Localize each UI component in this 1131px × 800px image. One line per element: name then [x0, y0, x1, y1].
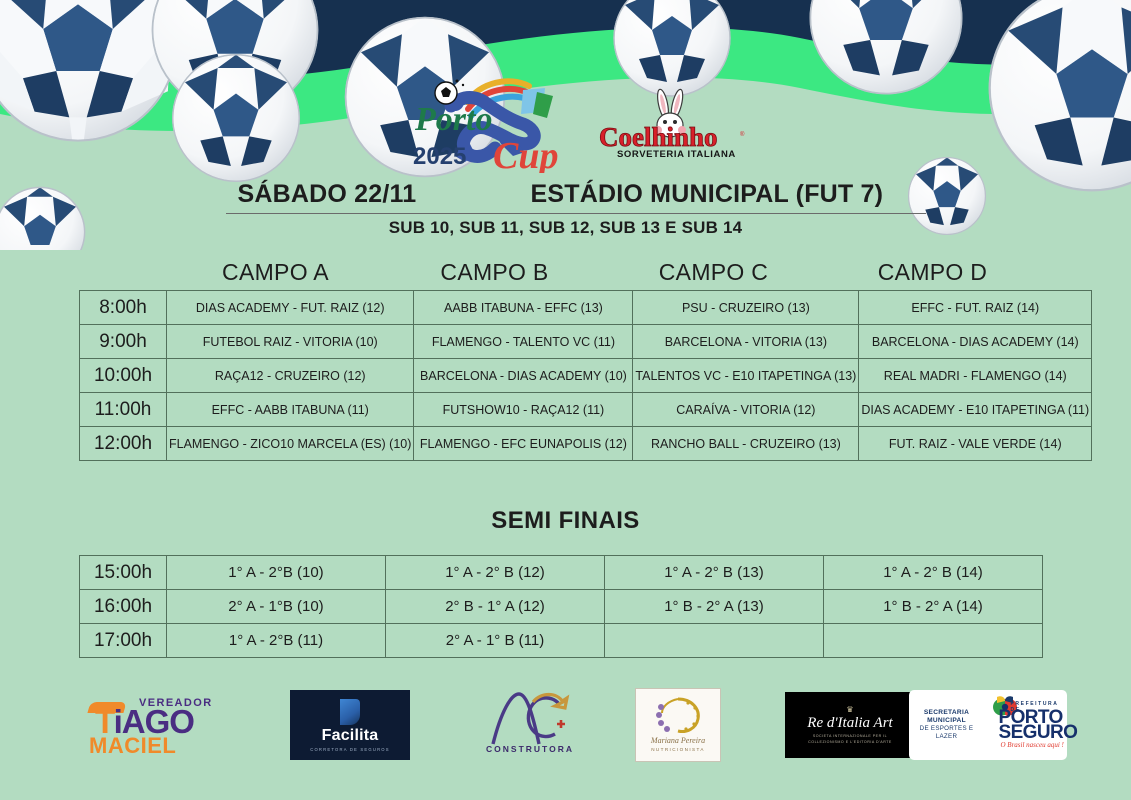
seguro-word: SEGURO — [999, 723, 1078, 742]
match-cell: DIAS ACADEMY - E10 ITAPETINGA (11) — [859, 393, 1092, 427]
match-cell: CARAÍVA - VITORIA (12) — [633, 393, 859, 427]
table-row: 11:00h EFFC - AABB ITABUNA (11) FUTSHOW1… — [80, 393, 1092, 427]
event-date: SÁBADO 22/11 — [238, 180, 417, 209]
facilita-tagline: CORRETORA DE SEGUROS — [310, 747, 390, 752]
match-cell: TALENTOS VC - E10 ITAPETINGA (13) — [633, 359, 859, 393]
match-cell: 1° A - 2° B (14) — [824, 556, 1043, 590]
svg-text:Coelhinho: Coelhinho — [599, 122, 718, 152]
facilita-mark-icon — [340, 699, 360, 725]
event-header: SÁBADO 22/11 ESTÁDIO MUNICIPAL (FUT 7) — [0, 180, 1131, 214]
match-cell: FLAMENGO - TALENTO VC (11) — [414, 325, 633, 359]
row-time: 15:00h — [80, 556, 167, 590]
tournament-schedule-poster: Porto 2025 Cup Coelhinho ® SORVETERIA IT… — [0, 0, 1131, 800]
group-stage-table: 8:00h DIAS ACADEMY - FUT. RAIZ (12) AABB… — [79, 290, 1092, 461]
row-time: 16:00h — [80, 590, 167, 624]
event-venue: ESTÁDIO MUNICIPAL (FUT 7) — [531, 180, 884, 209]
match-cell: 1° B - 2° A (13) — [605, 590, 824, 624]
svg-text:Cup: Cup — [493, 135, 558, 173]
column-header-campo-d: CAMPO D — [823, 259, 1042, 286]
match-cell: EFFC - AABB ITABUNA (11) — [167, 393, 414, 427]
column-header-campo-b: CAMPO B — [385, 259, 604, 286]
match-cell: BARCELONA - DIAS ACADEMY (10) — [414, 359, 633, 393]
match-cell: FUTSHOW10 - RAÇA12 (11) — [414, 393, 633, 427]
sponsor-porto-seguro: SECRETARIA MUNICIPAL DE ESPORTES E LAZER… — [900, 680, 1075, 770]
ac-monogram-icon — [489, 690, 573, 746]
match-cell: 2° A - 1° B (11) — [386, 624, 605, 658]
tiago-surname: MACIEL — [89, 735, 176, 757]
secretaria-line2: DE ESPORTES E LAZER — [909, 725, 985, 741]
table-row: 9:00h FUTEBOL RAIZ - VITORIA (10) FLAMEN… — [80, 325, 1092, 359]
wreath-icon — [648, 695, 708, 737]
coelhinho-sponsor-logo: Coelhinho ® SORVETERIA ITALIANA — [595, 88, 755, 160]
match-cell: PSU - CRUZEIRO (13) — [633, 291, 859, 325]
secretaria-line1: SECRETARIA MUNICIPAL — [909, 709, 985, 725]
svg-text:®: ® — [740, 131, 745, 138]
column-header-campo-c: CAMPO C — [604, 259, 823, 286]
svg-text:2025: 2025 — [413, 143, 466, 170]
match-cell: REAL MADRI - FLAMENGO (14) — [859, 359, 1092, 393]
match-cell: RANCHO BALL - CRUZEIRO (13) — [633, 427, 859, 461]
table-row: 10:00h RAÇA12 - CRUZEIRO (12) BARCELONA … — [80, 359, 1092, 393]
ac-label: CONSTRUTORA — [475, 744, 585, 754]
table-row: 17:00h 1° A - 2°B (11) 2° A - 1° B (11) — [80, 624, 1043, 658]
match-cell — [605, 624, 824, 658]
match-cell: 2° B - 1° A (12) — [386, 590, 605, 624]
row-time: 12:00h — [80, 427, 167, 461]
match-cell: DIAS ACADEMY - FUT. RAIZ (12) — [167, 291, 414, 325]
semi-finals-title: SEMI FINAIS — [0, 507, 1131, 535]
match-cell: 1° A - 2°B (10) — [167, 556, 386, 590]
re-italia-name: Re d'Italia Art — [807, 715, 892, 732]
nutri-role: NUTRICIONISTA — [636, 747, 720, 752]
sponsor-mariana-pereira-nutricionista: Mariana Pereira NUTRICIONISTA — [603, 680, 753, 770]
match-cell: 2° A - 1°B (10) — [167, 590, 386, 624]
row-time: 17:00h — [80, 624, 167, 658]
row-time: 11:00h — [80, 393, 167, 427]
match-cell: 1° A - 2° B (12) — [386, 556, 605, 590]
field-column-headers: CAMPO A CAMPO B CAMPO C CAMPO D — [166, 259, 1042, 286]
sponsor-logos-row: VEREADOR TiAGO MACIEL Facilita CORRETORA… — [60, 680, 1080, 772]
column-header-campo-a: CAMPO A — [166, 259, 385, 286]
re-italia-sub2: COLLEZIONISMO E L'EDITORIA D'ARTE — [808, 740, 892, 744]
facilita-name: Facilita — [322, 728, 379, 744]
match-cell: BARCELONA - VITORIA (13) — [633, 325, 859, 359]
match-cell: FLAMENGO - EFC EUNAPOLIS (12) — [414, 427, 633, 461]
match-cell: 1° A - 2° B (13) — [605, 556, 824, 590]
match-cell: FUT. RAIZ - VALE VERDE (14) — [859, 427, 1092, 461]
svg-text:SORVETERIA ITALIANA: SORVETERIA ITALIANA — [617, 149, 736, 160]
sponsor-facilita: Facilita CORRETORA DE SEGUROS — [265, 680, 435, 770]
porto-slogan: O Brasil nasceu aqui ! — [1001, 741, 1064, 749]
row-time: 9:00h — [80, 325, 167, 359]
sponsor-ac-construtora: CONSTRUTORA — [460, 680, 600, 770]
table-row: 8:00h DIAS ACADEMY - FUT. RAIZ (12) AABB… — [80, 291, 1092, 325]
match-cell: FLAMENGO - ZICO10 MARCELA (ES) (10) — [167, 427, 414, 461]
match-cell: FUTEBOL RAIZ - VITORIA (10) — [167, 325, 414, 359]
match-cell: BARCELONA - DIAS ACADEMY (14) — [859, 325, 1092, 359]
nutri-name: Mariana Pereira — [636, 736, 720, 745]
match-cell: 1° A - 2°B (11) — [167, 624, 386, 658]
event-categories: SUB 10, SUB 11, SUB 12, SUB 13 E SUB 14 — [0, 218, 1131, 238]
sponsor-tiago-maciel: VEREADOR TiAGO MACIEL — [76, 680, 236, 770]
match-cell: 1° B - 2° A (14) — [824, 590, 1043, 624]
match-cell: EFFC - FUT. RAIZ (14) — [859, 291, 1092, 325]
row-time: 8:00h — [80, 291, 167, 325]
table-row: 12:00h FLAMENGO - ZICO10 MARCELA (ES) (1… — [80, 427, 1092, 461]
svg-text:Porto: Porto — [414, 101, 492, 138]
match-cell: RAÇA12 - CRUZEIRO (12) — [167, 359, 414, 393]
table-row: 16:00h 2° A - 1°B (10) 2° B - 1° A (12) … — [80, 590, 1043, 624]
table-row: 15:00h 1° A - 2°B (10) 1° A - 2° B (12) … — [80, 556, 1043, 590]
match-cell — [824, 624, 1043, 658]
crown-icon: ♛ — [846, 706, 853, 714]
re-italia-sub1: SOCIETA INTERNAZIONALE PER IL — [813, 734, 887, 738]
match-cell: AABB ITABUNA - EFFC (13) — [414, 291, 633, 325]
header-divider — [226, 213, 926, 214]
row-time: 10:00h — [80, 359, 167, 393]
porto-cup-logo: Porto 2025 Cup — [405, 68, 575, 173]
semi-finals-table: 15:00h 1° A - 2°B (10) 1° A - 2° B (12) … — [79, 555, 1043, 658]
